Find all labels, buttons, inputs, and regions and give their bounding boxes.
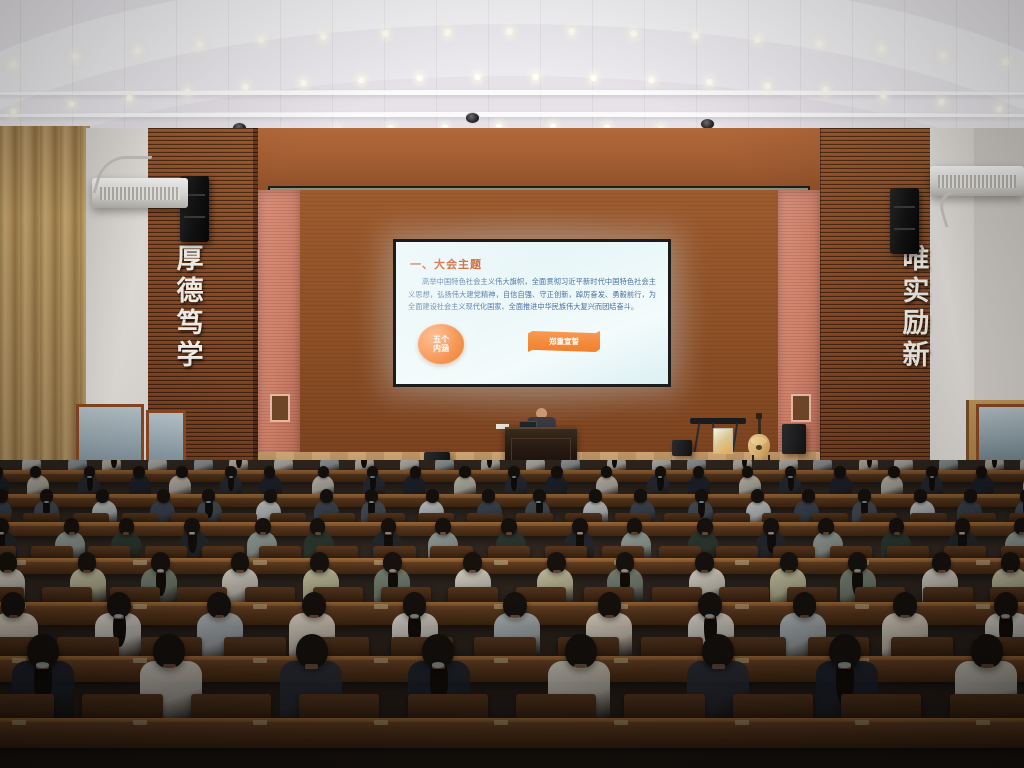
desk-number-plate: [374, 658, 388, 663]
seat-back[interactable]: [891, 637, 953, 656]
person-head: [742, 466, 753, 478]
person-head: [176, 466, 187, 478]
person-neck: [510, 615, 520, 619]
person-neck: [823, 532, 829, 535]
person-neck: [440, 532, 446, 535]
person-neck: [114, 615, 124, 619]
audience-person: [129, 466, 151, 496]
person-head: [157, 489, 170, 503]
projection-screen: 一、大会主题 高举中国特色社会主义伟大旗帜，全面贯彻习近平新时代中国特色社会主义…: [396, 242, 668, 384]
person-hair-tie: [512, 476, 516, 478]
person-neck: [36, 664, 49, 670]
person-neck: [432, 664, 445, 670]
seat-back[interactable]: [259, 546, 301, 558]
person-neck: [0, 532, 4, 535]
person-hair-tie: [44, 501, 49, 503]
person-head: [551, 466, 562, 478]
seat-back[interactable]: [841, 694, 921, 718]
person-neck: [894, 532, 900, 535]
person-hair-tie: [658, 476, 662, 478]
seat-back[interactable]: [408, 694, 488, 718]
guitar-soundhole: [756, 445, 762, 450]
person-neck: [785, 570, 793, 573]
desk-number-plate: [735, 560, 749, 565]
person-head: [264, 466, 275, 478]
desk-number-plate: [614, 720, 628, 725]
desk-number-plate: [12, 720, 26, 725]
audience-person: [454, 466, 476, 496]
person-head: [634, 489, 647, 503]
person-neck: [553, 570, 561, 573]
seat-back[interactable]: [82, 694, 162, 718]
person-neck: [574, 664, 587, 670]
seat-back[interactable]: [448, 587, 498, 602]
person-neck: [260, 532, 266, 535]
pilaster-right: [778, 190, 820, 460]
desk-number-plate: [253, 720, 267, 725]
seat-back[interactable]: [31, 546, 73, 558]
guitar-headstock: [756, 413, 762, 419]
person-neck: [236, 570, 244, 573]
person-neck: [605, 615, 615, 619]
person-neck: [577, 532, 583, 535]
seat-back[interactable]: [42, 587, 92, 602]
poster-board: [713, 428, 733, 454]
person-neck: [315, 532, 321, 535]
seat-back[interactable]: [516, 694, 596, 718]
desk-number-plate: [374, 604, 388, 609]
person-head: [482, 489, 495, 503]
person-head: [751, 489, 764, 503]
person-neck: [768, 532, 774, 535]
audience-area: [0, 460, 1024, 768]
person-head: [589, 489, 602, 503]
audience-person: [220, 466, 242, 496]
seat-back[interactable]: [733, 694, 813, 718]
person-head: [459, 466, 470, 478]
slide-heading: 一、大会主题: [410, 256, 482, 272]
pilaster-niche-right: [791, 394, 811, 422]
wall-motto-right: 唯实励新: [896, 244, 931, 372]
person-hair-tie: [370, 476, 374, 478]
person-neck: [389, 570, 397, 573]
person-head: [320, 489, 333, 503]
desk-number-plate: [976, 560, 990, 565]
person-head: [318, 466, 329, 478]
person-neck: [469, 570, 477, 573]
seat-back[interactable]: [474, 637, 536, 656]
person-head: [0, 489, 8, 503]
person-head: [802, 489, 815, 503]
person-head: [976, 466, 987, 478]
person-neck: [83, 570, 91, 573]
audience-person: [830, 466, 852, 496]
person-neck: [410, 615, 420, 619]
person-hair-tie: [862, 501, 867, 503]
person-hair-tie: [536, 501, 541, 503]
seat-back[interactable]: [299, 694, 379, 718]
desk-number-plate: [735, 720, 749, 725]
person-neck: [69, 532, 75, 535]
person-hair-tie: [229, 476, 233, 478]
keyboard-leg-1: [694, 423, 701, 452]
desk-number-plate: [855, 604, 869, 609]
person-neck: [712, 664, 725, 670]
seat-back[interactable]: [923, 587, 973, 602]
person-neck: [938, 570, 946, 573]
stage-soffit: [258, 128, 820, 194]
person-head: [264, 489, 277, 503]
desk-number-plate: [614, 658, 628, 663]
person-neck: [900, 615, 910, 619]
person-head: [30, 466, 41, 478]
person-head: [601, 466, 612, 478]
seat-back[interactable]: [713, 513, 750, 522]
desk-row: [0, 718, 1024, 748]
person-hair-tie: [930, 476, 934, 478]
desk-number-plate: [253, 658, 267, 663]
person-neck: [981, 664, 994, 670]
desk-number-plate: [494, 720, 508, 725]
seat-back[interactable]: [488, 546, 530, 558]
person-neck: [800, 615, 810, 619]
person-hair-tie: [87, 476, 91, 478]
seat-back[interactable]: [191, 694, 271, 718]
slide-badge-ribbon: 郑重宣誓: [528, 331, 600, 352]
person-neck: [621, 570, 629, 573]
seat-back[interactable]: [950, 694, 1024, 718]
person-torso: [881, 475, 903, 496]
slide-badge-circle-line1: 五个: [433, 335, 449, 344]
person-neck: [163, 664, 176, 670]
person-neck: [1019, 532, 1024, 535]
slide-body-text: 高举中国特色社会主义伟大旗帜，全面贯彻习近平新时代中国特色社会主义思想，弘扬伟大…: [408, 276, 656, 314]
person-neck: [215, 615, 225, 619]
desk-number-plate: [133, 720, 147, 725]
person-neck: [157, 570, 165, 573]
pilaster-left: [258, 190, 300, 460]
wall-motto-left: 厚德笃学: [170, 244, 205, 372]
seat-back[interactable]: [245, 587, 295, 602]
person-neck: [506, 532, 512, 535]
slide-badge-circle-line2: 内涵: [433, 344, 449, 353]
person-head: [964, 489, 977, 503]
person-hair-tie: [788, 476, 792, 478]
desk-number-plate: [494, 560, 508, 565]
person-neck: [1001, 615, 1011, 619]
person-ponytail: [111, 460, 116, 468]
guitar-waist: [751, 437, 767, 445]
slide-badge-circle: 五个 内涵: [418, 324, 464, 364]
person-neck: [309, 615, 319, 619]
floor-speaker-center: [672, 440, 692, 456]
person-torso: [129, 475, 151, 496]
person-head: [834, 466, 845, 478]
person-head: [426, 489, 439, 503]
person-neck: [838, 664, 851, 670]
person-head: [888, 466, 899, 478]
person-head: [693, 466, 704, 478]
person-neck: [705, 615, 715, 619]
person-neck: [305, 664, 318, 670]
person-neck: [4, 570, 12, 573]
desk-number-plate: [374, 720, 388, 725]
floor-speaker-right: [782, 424, 806, 454]
person-neck: [1007, 570, 1015, 573]
person-neck: [854, 570, 862, 573]
auditorium-photo: 厚德笃学 唯实励新 一、大会主题 高举中国特色社会主义伟大旗帜，全面贯彻习近平新…: [0, 0, 1024, 768]
person-torso: [454, 475, 476, 496]
person-head: [410, 466, 421, 478]
seat-back[interactable]: [224, 637, 286, 656]
desk-number-plate: [253, 604, 267, 609]
person-neck: [701, 570, 709, 573]
seat-back[interactable]: [910, 513, 947, 522]
acoustic-guitar: [748, 416, 770, 458]
person-hair-tie: [699, 501, 704, 503]
person-neck: [631, 532, 637, 535]
slide-badge-group: 五个 内涵 郑重宣誓: [418, 324, 650, 368]
person-neck: [316, 570, 324, 573]
seat-back[interactable]: [624, 694, 704, 718]
person-neck: [189, 532, 195, 535]
desk-number-plate: [976, 720, 990, 725]
seat-back[interactable]: [0, 694, 54, 718]
desk-number-plate: [735, 604, 749, 609]
desk-number-plate: [494, 658, 508, 663]
pilaster-niche-left: [270, 394, 290, 422]
person-neck: [9, 615, 19, 619]
person-neck: [385, 532, 391, 535]
projection-screen-frame: 一、大会主题 高举中国特色社会主义伟大旗帜，全面贯彻习近平新时代中国特色社会主义…: [393, 239, 671, 387]
person-hair-tie: [369, 501, 374, 503]
person-head: [914, 489, 927, 503]
air-unit-bracket-right: [935, 190, 995, 227]
audience-person: [881, 466, 903, 496]
person-torso: [830, 475, 852, 496]
person-head: [133, 466, 144, 478]
person-hair-tie: [206, 501, 211, 503]
desk-number-plate: [855, 720, 869, 725]
speaker-right: [890, 188, 919, 254]
person-head: [96, 489, 109, 503]
